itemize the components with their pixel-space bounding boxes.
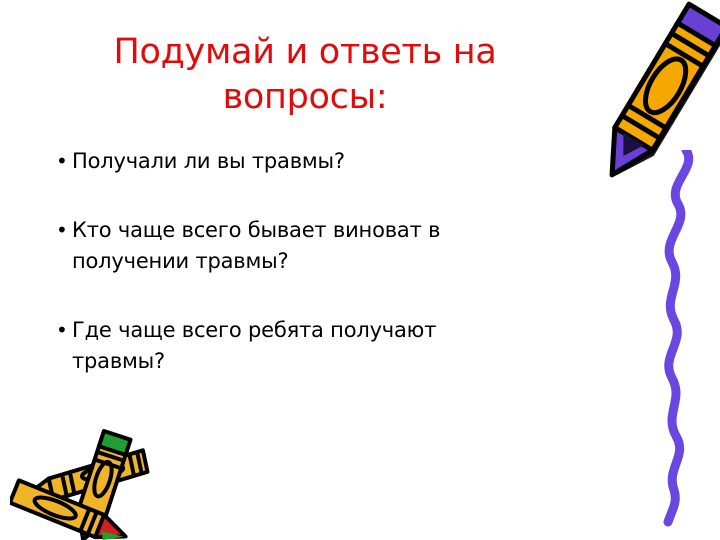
purple-squiggle-illustration [640, 150, 720, 530]
page-title: Подумай и ответь на вопросы: [40, 30, 570, 120]
wavy-line-icon [640, 150, 720, 530]
list-item: • Получали ли вы травмы? [56, 146, 556, 177]
crossed-crayons-icon [10, 418, 210, 540]
list-item-text: Где чаще всего ребята получают травмы? [72, 315, 556, 377]
slide: Подумай и ответь на вопросы: • Получали … [0, 0, 720, 540]
crossed-crayons-illustration [10, 418, 210, 540]
bullet-list: • Получали ли вы травмы? • Кто чаще всег… [56, 146, 556, 377]
bullet-marker-icon: • [56, 315, 72, 346]
crayon-top-right-illustration [586, 0, 720, 194]
list-item-text: Кто чаще всего бывает виноват в получени… [72, 215, 556, 277]
list-item: • Кто чаще всего бывает виноват в получе… [56, 215, 556, 277]
bullet-marker-icon: • [56, 146, 72, 177]
bullet-marker-icon: • [56, 215, 72, 246]
list-item: • Где чаще всего ребята получают травмы? [56, 315, 556, 377]
yellow-crayon-icon [586, 0, 720, 194]
list-item-text: Получали ли вы травмы? [72, 146, 556, 177]
